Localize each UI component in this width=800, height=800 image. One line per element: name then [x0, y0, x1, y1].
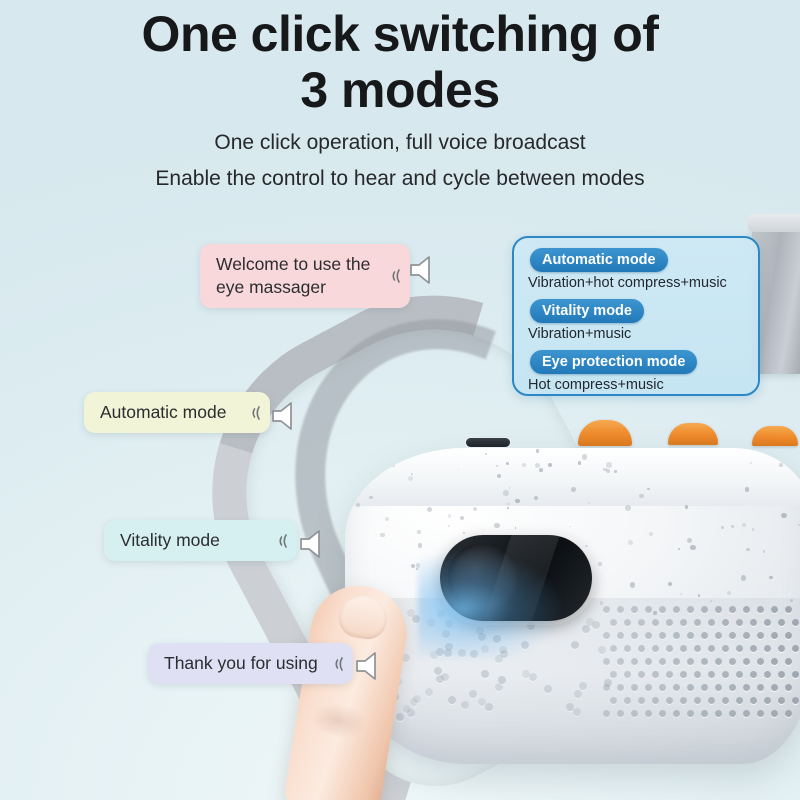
mode-description-eye-protection: Hot compress+music [528, 376, 758, 395]
mode-badge-eye-protection: Eye protection mode [530, 350, 697, 374]
page-title: One click switching of 3 modes [0, 6, 800, 118]
mode-description-vitality: Vibration+music [528, 325, 758, 344]
finger-knuckle [308, 700, 369, 742]
usb-charging-port [466, 438, 510, 447]
voice-bubble-vitality-mode: Vitality mode [104, 520, 297, 561]
sound-wave-icon [250, 403, 261, 423]
mode-row: Automatic mode Vibration+hot compress+mu… [514, 248, 758, 293]
voice-bubble-text: Automatic mode [84, 392, 250, 433]
sound-wave-icon [390, 266, 401, 286]
header: One click switching of 3 modes One click… [0, 6, 800, 192]
subtitle-secondary: Enable the control to hear and cycle bet… [0, 166, 800, 192]
speaker-grille [603, 606, 800, 724]
voice-bubble-text: Vitality mode [104, 520, 277, 561]
voice-bubble-automatic-mode: Automatic mode [84, 392, 270, 433]
power-button[interactable] [448, 543, 518, 613]
fingernail [336, 593, 390, 642]
eye-pad [668, 423, 718, 445]
eye-pad [752, 426, 798, 446]
voice-bubble-thank-you: Thank you for using [148, 643, 353, 684]
subtitle-primary: One click operation, full voice broadcas… [0, 130, 800, 156]
voice-bubble-text: Welcome to use the eye massager [200, 244, 390, 308]
mode-row: Eye protection mode Hot compress+music [514, 350, 758, 395]
title-line-1: One click switching of [142, 6, 659, 62]
mode-list-panel: Automatic mode Vibration+hot compress+mu… [512, 236, 760, 396]
product-infographic: One click switching of 3 modes One click… [0, 0, 800, 800]
headband-far-end-cap [748, 214, 800, 232]
voice-bubble-welcome: Welcome to use the eye massager [200, 244, 410, 308]
speaker-icon [348, 648, 386, 684]
title-line-2: 3 modes [0, 62, 800, 118]
sound-wave-icon [277, 531, 288, 551]
voice-bubble-text: Thank you for using [148, 643, 333, 684]
speaker-icon [264, 398, 302, 434]
mode-badge-vitality: Vitality mode [530, 299, 644, 323]
speaker-icon [402, 252, 440, 288]
mode-description-automatic: Vibration+hot compress+music [528, 274, 758, 293]
sound-wave-icon [333, 654, 344, 674]
mode-badge-automatic: Automatic mode [530, 248, 668, 272]
mode-row: Vitality mode Vibration+music [514, 299, 758, 344]
touch-control-panel[interactable] [440, 535, 592, 621]
speaker-icon [292, 526, 330, 562]
